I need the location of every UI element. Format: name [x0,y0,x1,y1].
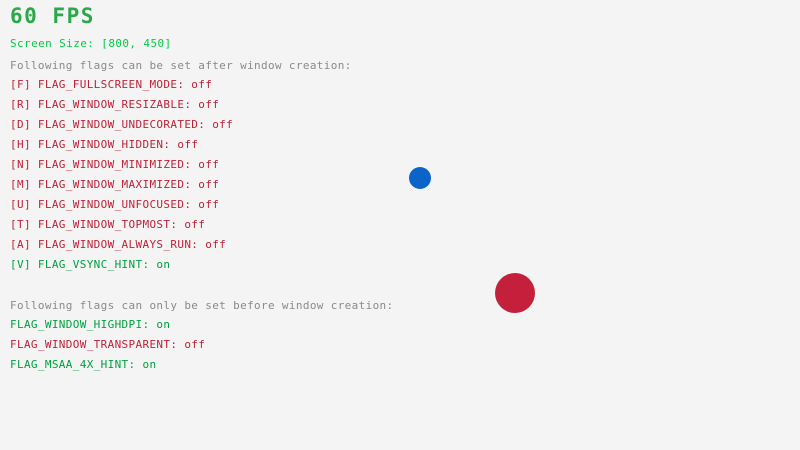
fps-counter: 60 FPS [10,6,95,27]
flag-row-window-topmost[interactable]: [T] FLAG_WINDOW_TOPMOST: off [10,219,233,239]
screen-size-label: Screen Size: [800, 450] [10,38,172,49]
flag-row-vsync-hint[interactable]: [V] FLAG_VSYNC_HINT: on [10,259,233,279]
flag-row-window-always-run[interactable]: [A] FLAG_WINDOW_ALWAYS_RUN: off [10,239,233,259]
blue-ball-shape [409,167,431,189]
section-heading-after-creation: Following flags can be set after window … [10,60,352,71]
flag-row-msaa-4x-hint: FLAG_MSAA_4X_HINT: on [10,359,205,379]
flag-row-window-undecorated[interactable]: [D] FLAG_WINDOW_UNDECORATED: off [10,119,233,139]
flag-row-window-unfocused[interactable]: [U] FLAG_WINDOW_UNFOCUSED: off [10,199,233,219]
flag-row-window-maximized[interactable]: [M] FLAG_WINDOW_MAXIMIZED: off [10,179,233,199]
flag-row-window-resizable[interactable]: [R] FLAG_WINDOW_RESIZABLE: off [10,99,233,119]
section-heading-before-creation: Following flags can only be set before w… [10,300,394,311]
flag-row-window-transparent: FLAG_WINDOW_TRANSPARENT: off [10,339,205,359]
flag-row-fullscreen-mode[interactable]: [F] FLAG_FULLSCREEN_MODE: off [10,79,233,99]
flag-row-window-hidden[interactable]: [H] FLAG_WINDOW_HIDDEN: off [10,139,233,159]
flag-list-after-creation: [F] FLAG_FULLSCREEN_MODE: off [R] FLAG_W… [10,79,233,279]
flag-row-window-minimized[interactable]: [N] FLAG_WINDOW_MINIMIZED: off [10,159,233,179]
flag-list-before-creation: FLAG_WINDOW_HIGHDPI: on FLAG_WINDOW_TRAN… [10,319,205,379]
raylib-window-canvas: 60 FPS Screen Size: [800, 450] Following… [0,0,800,450]
flag-row-window-highdpi: FLAG_WINDOW_HIGHDPI: on [10,319,205,339]
red-ball-shape [495,273,535,313]
